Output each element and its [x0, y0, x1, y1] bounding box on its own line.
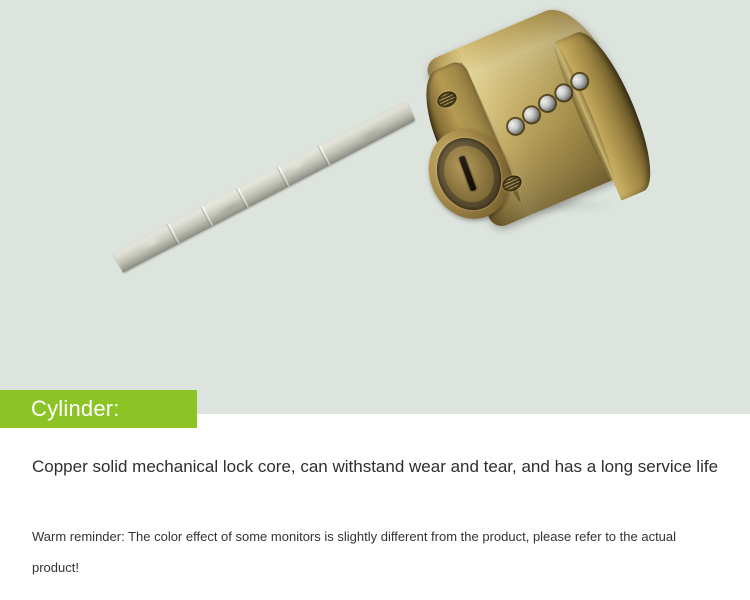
cylinder-keyway-face: [435, 138, 502, 211]
section-label-banner: Cylinder:: [0, 390, 197, 428]
blade-notch: [237, 188, 249, 208]
ball-pin: [570, 72, 589, 91]
blade-notch: [319, 145, 331, 165]
product-detail-page: Cylinder: Copper solid mechanical lock c…: [0, 0, 750, 600]
lock-cylinder-illustration: [0, 0, 750, 414]
product-description: Copper solid mechanical lock core, can w…: [32, 452, 722, 481]
keyway-slot: [459, 156, 477, 192]
ball-pin: [522, 105, 541, 124]
section-label-title: Cylinder:: [0, 398, 120, 420]
blade-notch: [168, 224, 180, 244]
blade-notch: [278, 166, 290, 186]
blade-notch: [202, 206, 214, 226]
ball-pin: [554, 83, 573, 102]
product-photo-area: [0, 0, 750, 414]
warm-reminder-note: Warm reminder: The color effect of some …: [32, 521, 722, 583]
ball-pin: [538, 94, 557, 113]
key-blade: [113, 101, 416, 273]
